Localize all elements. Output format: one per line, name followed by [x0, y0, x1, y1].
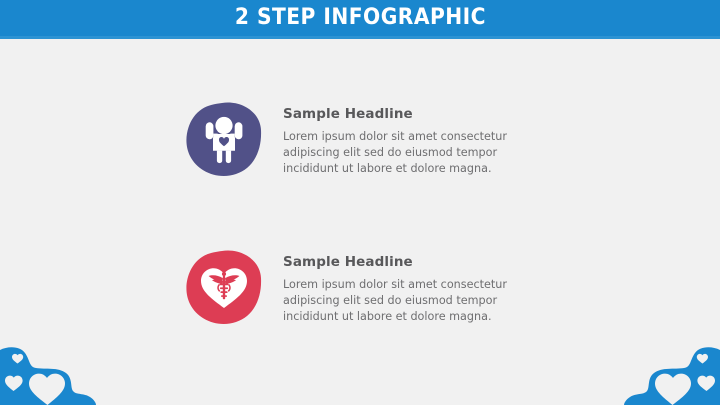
step-2-body: Lorem ipsum dolor sit amet consectetur a…	[283, 277, 533, 325]
step-1-text-block: Sample Headline Lorem ipsum dolor sit am…	[283, 102, 533, 177]
step-item-2[interactable]: Sample Headline Lorem ipsum dolor sit am…	[186, 250, 533, 325]
header-underline-divider	[0, 36, 720, 39]
hearts-blob-decoration-right	[624, 327, 720, 405]
header-bar: 2 STEP INFOGRAPHIC	[0, 0, 720, 36]
step-item-1[interactable]: Sample Headline Lorem ipsum dolor sit am…	[186, 102, 533, 177]
heart-caduceus-icon	[186, 250, 262, 324]
step-2-text-block: Sample Headline Lorem ipsum dolor sit am…	[283, 250, 533, 325]
step-1-body: Lorem ipsum dolor sit amet consectetur a…	[283, 129, 533, 177]
step-2-icon-container[interactable]	[186, 250, 262, 324]
step-1-headline: Sample Headline	[283, 107, 533, 122]
page-title: 2 STEP INFOGRAPHIC	[234, 7, 485, 29]
hearts-blob-decoration-left	[0, 327, 96, 405]
person-raising-arms-heart-icon	[186, 102, 262, 176]
step-1-icon-container[interactable]	[186, 102, 262, 176]
slide-canvas: 2 STEP INFOGRAPHIC	[0, 0, 720, 405]
step-2-headline: Sample Headline	[283, 255, 533, 270]
